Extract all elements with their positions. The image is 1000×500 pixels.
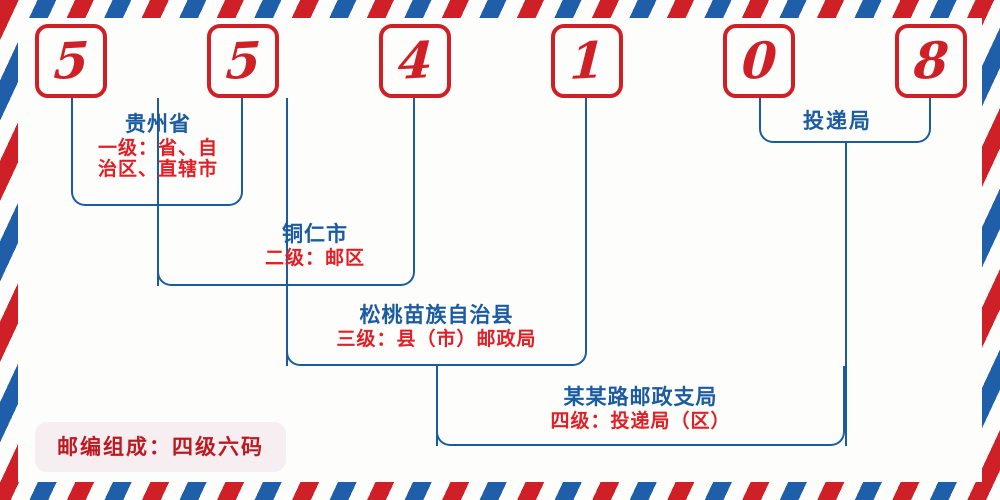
digit-5-glyph: 0: [740, 35, 778, 87]
level-2-name: 铜仁市: [200, 222, 430, 246]
digit-1-glyph: 5: [52, 35, 90, 87]
digit-2-glyph: 5: [224, 35, 262, 87]
level-1-name: 贵州省: [80, 112, 236, 136]
footer-badge-text: 邮编组成：四级六码: [57, 434, 264, 459]
digit-3-glyph: 4: [396, 35, 434, 87]
level-2-label: 铜仁市 二级：邮区: [200, 222, 430, 269]
digit-box-5[interactable]: 0: [723, 24, 795, 98]
digit-box-6[interactable]: 8: [895, 24, 967, 98]
level-4-label: 某某路邮政支局 四级：投递局（区）: [518, 385, 763, 432]
level-4-name: 某某路邮政支局: [518, 385, 763, 409]
digit-4-glyph: 1: [568, 35, 606, 87]
level-3-desc: 三级：县（市）邮政局: [310, 329, 563, 350]
postcode-diagram: 5 5 4 1 0 8 贵州省 一级：省、自 治区、直辖市 铜仁市 二级：邮区 …: [0, 0, 1000, 500]
level-3-label: 松桃苗族自治县 三级：县（市）邮政局: [310, 303, 563, 350]
level-2-desc: 二级：邮区: [200, 248, 430, 269]
level-3-name: 松桃苗族自治县: [310, 303, 563, 327]
level-1-desc-line-2: 治区、直辖市: [80, 159, 236, 180]
digit-6-glyph: 8: [912, 35, 950, 87]
digit-box-4[interactable]: 1: [551, 24, 623, 98]
level-1-desc-line-1: 一级：省、自: [80, 138, 236, 159]
level-4-desc: 四级：投递局（区）: [518, 411, 763, 432]
digit-box-2[interactable]: 5: [207, 24, 279, 98]
connector-stem-delivery-office: [845, 143, 847, 446]
delivery-office-label: 投递局: [803, 105, 872, 135]
digit-box-3[interactable]: 4: [379, 24, 451, 98]
footer-badge: 邮编组成：四级六码: [35, 422, 286, 472]
digit-box-1[interactable]: 5: [35, 24, 107, 98]
level-1-label: 贵州省 一级：省、自 治区、直辖市: [80, 112, 236, 180]
